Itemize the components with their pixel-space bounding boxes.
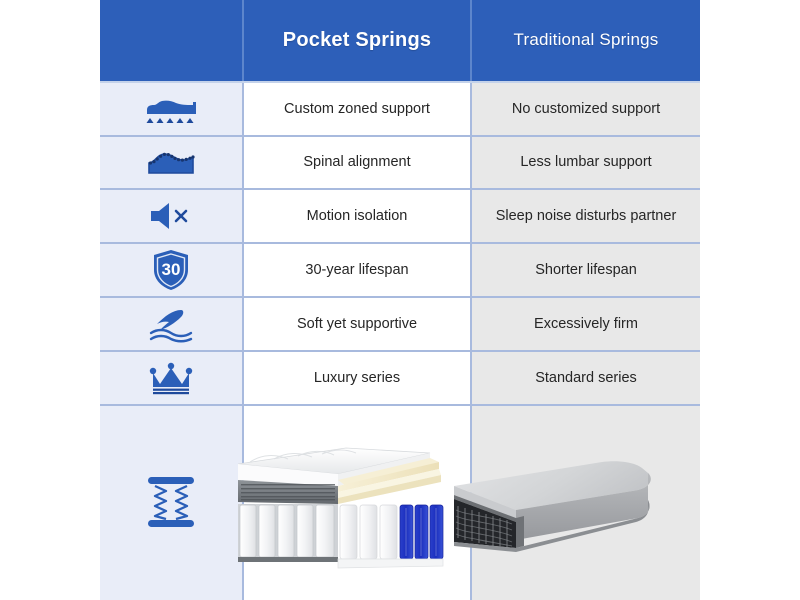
comparison-table: Pocket Springs Traditional Springs (100, 0, 700, 600)
row-traditional-cell: Shorter lifespan (472, 244, 700, 296)
header-cell-icon-column (100, 0, 244, 81)
header-title-traditional-springs: Traditional Springs (514, 30, 659, 50)
spinal-alignment-icon (139, 141, 203, 183)
product-image-row (100, 406, 700, 600)
row-traditional-cell: Excessively firm (472, 298, 700, 350)
row-traditional-text: Sleep noise disturbs partner (496, 207, 677, 225)
row-pocket-text: Spinal alignment (303, 153, 410, 171)
table-row: Motion isolation Sleep noise disturbs pa… (100, 190, 700, 244)
row-traditional-text: Shorter lifespan (535, 261, 637, 279)
row-icon-cell (100, 298, 244, 350)
row-traditional-text: Excessively firm (534, 315, 638, 333)
mute-speaker-icon (139, 195, 203, 237)
shield-30-icon: 30 (139, 249, 203, 291)
row-pocket-text: Soft yet supportive (297, 315, 417, 333)
row-pocket-cell: Soft yet supportive (244, 298, 472, 350)
coil-spring-icon (141, 471, 201, 535)
row-icon-cell (100, 406, 244, 600)
row-pocket-cell: Luxury series (244, 352, 472, 404)
row-pocket-cell: Motion isolation (244, 190, 472, 242)
table-row: Custom zoned support No customized suppo… (100, 83, 700, 137)
row-icon-cell (100, 190, 244, 242)
header-title-pocket-springs: Pocket Springs (283, 29, 431, 52)
row-traditional-text: No customized support (512, 100, 660, 118)
table-row: 30 30-year lifespan Shorter lifespan (100, 244, 700, 298)
table-header-row: Pocket Springs Traditional Springs (100, 0, 700, 83)
row-icon-cell (100, 352, 244, 404)
row-pocket-text: 30-year lifespan (305, 261, 408, 279)
row-traditional-cell: Standard series (472, 352, 700, 404)
row-pocket-cell: Spinal alignment (244, 137, 472, 189)
pocket-product-cell (244, 406, 472, 600)
shield-badge-value: 30 (162, 260, 181, 279)
zoned-bed-icon (139, 88, 203, 130)
row-pocket-text: Motion isolation (307, 207, 408, 225)
row-traditional-text: Standard series (535, 369, 637, 387)
comparison-infographic: Pocket Springs Traditional Springs (0, 0, 800, 600)
traditional-product-cell (472, 406, 700, 600)
row-icon-cell (100, 137, 244, 189)
table-row: Soft yet supportive Excessively firm (100, 298, 700, 352)
table-row: Luxury series Standard series (100, 352, 700, 406)
row-traditional-cell: Sleep noise disturbs partner (472, 190, 700, 242)
header-cell-pocket: Pocket Springs (244, 0, 472, 81)
table-row: Spinal alignment Less lumbar support (100, 137, 700, 191)
row-icon-cell: 30 (100, 244, 244, 296)
row-pocket-cell: Custom zoned support (244, 83, 472, 135)
row-traditional-cell: Less lumbar support (472, 137, 700, 189)
header-cell-traditional: Traditional Springs (472, 0, 700, 81)
row-icon-cell (100, 83, 244, 135)
crown-icon (139, 357, 203, 399)
row-pocket-text: Luxury series (314, 369, 400, 387)
row-traditional-text: Less lumbar support (520, 153, 651, 171)
row-pocket-text: Custom zoned support (284, 100, 430, 118)
row-traditional-cell: No customized support (472, 83, 700, 135)
row-pocket-cell: 30-year lifespan (244, 244, 472, 296)
soft-touch-wave-icon (139, 303, 203, 345)
